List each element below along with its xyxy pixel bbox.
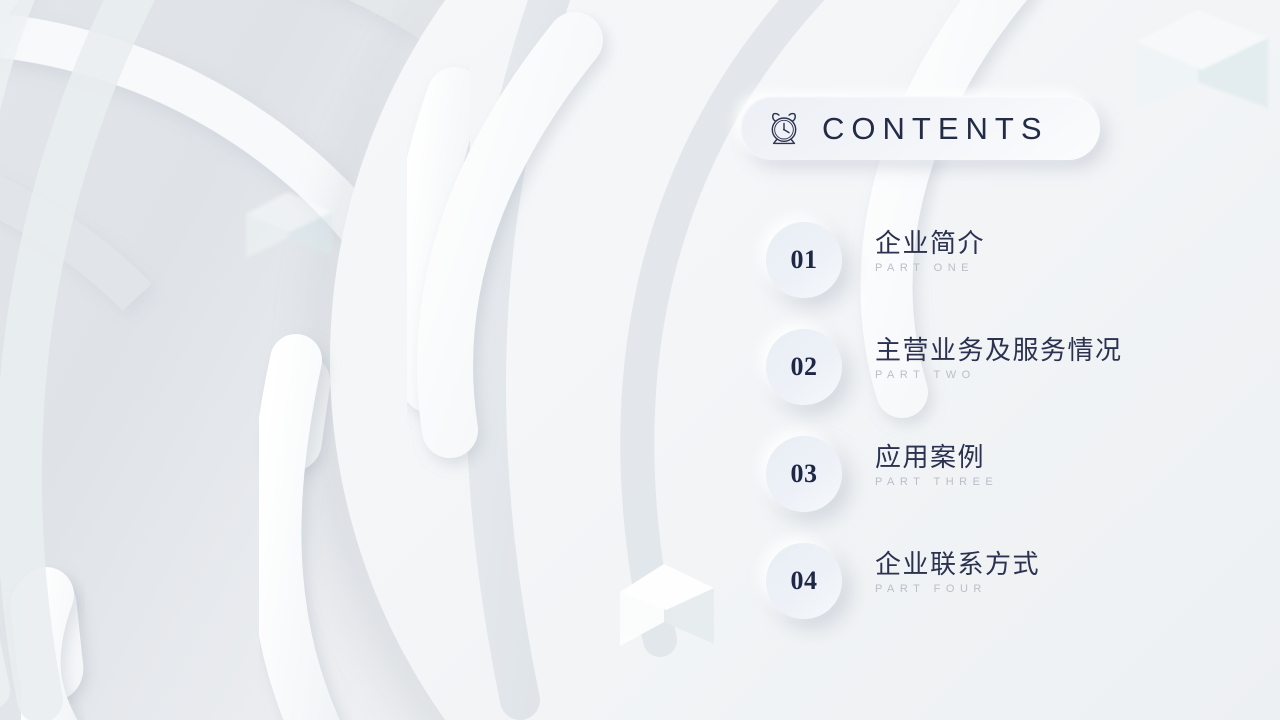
contents-number-badge[interactable]: 02	[766, 329, 842, 405]
contents-number-badge[interactable]: 03	[766, 436, 842, 512]
contents-item-02[interactable]: 02 主营业务及服务情况 PART TWO	[735, 322, 1280, 429]
contents-item-texts: 主营业务及服务情况 PART TWO	[875, 322, 1123, 381]
contents-item-subtitle: PART FOUR	[875, 583, 1040, 595]
contents-slide: CONTENTS 01 企业简介 PART ONE 02 主营业务及服务情况	[0, 0, 1280, 720]
contents-item-04[interactable]: 04 企业联系方式 PART FOUR	[735, 536, 1280, 643]
contents-item-title: 应用案例	[875, 443, 998, 474]
cube-mid-left-icon	[236, 178, 346, 288]
contents-number: 04	[791, 566, 818, 596]
contents-number: 01	[791, 245, 818, 275]
contents-item-subtitle: PART TWO	[875, 369, 1123, 381]
contents-item-title: 企业简介	[875, 229, 985, 260]
contents-number-badge[interactable]: 01	[766, 222, 842, 298]
contents-item-title: 企业联系方式	[875, 550, 1040, 581]
contents-title-pill: CONTENTS	[740, 96, 1100, 160]
contents-item-title: 主营业务及服务情况	[875, 336, 1123, 367]
contents-item-texts: 企业联系方式 PART FOUR	[875, 536, 1040, 595]
contents-item-subtitle: PART ONE	[875, 262, 985, 274]
contents-number-badge[interactable]: 04	[766, 543, 842, 619]
cube-bottom-center-icon	[606, 548, 736, 668]
contents-item-03[interactable]: 03 应用案例 PART THREE	[735, 429, 1280, 536]
contents-number: 02	[791, 352, 818, 382]
alarm-clock-icon	[764, 108, 804, 148]
contents-panel: CONTENTS 01 企业简介 PART ONE 02 主营业务及服务情况	[735, 0, 1280, 720]
contents-item-texts: 应用案例 PART THREE	[875, 429, 998, 488]
contents-number: 03	[791, 459, 818, 489]
contents-item-01[interactable]: 01 企业简介 PART ONE	[735, 215, 1280, 322]
contents-item-subtitle: PART THREE	[875, 476, 998, 488]
contents-title: CONTENTS	[822, 112, 1049, 144]
contents-list: 01 企业简介 PART ONE 02 主营业务及服务情况 PART TWO	[735, 215, 1280, 643]
contents-item-texts: 企业简介 PART ONE	[875, 215, 985, 274]
